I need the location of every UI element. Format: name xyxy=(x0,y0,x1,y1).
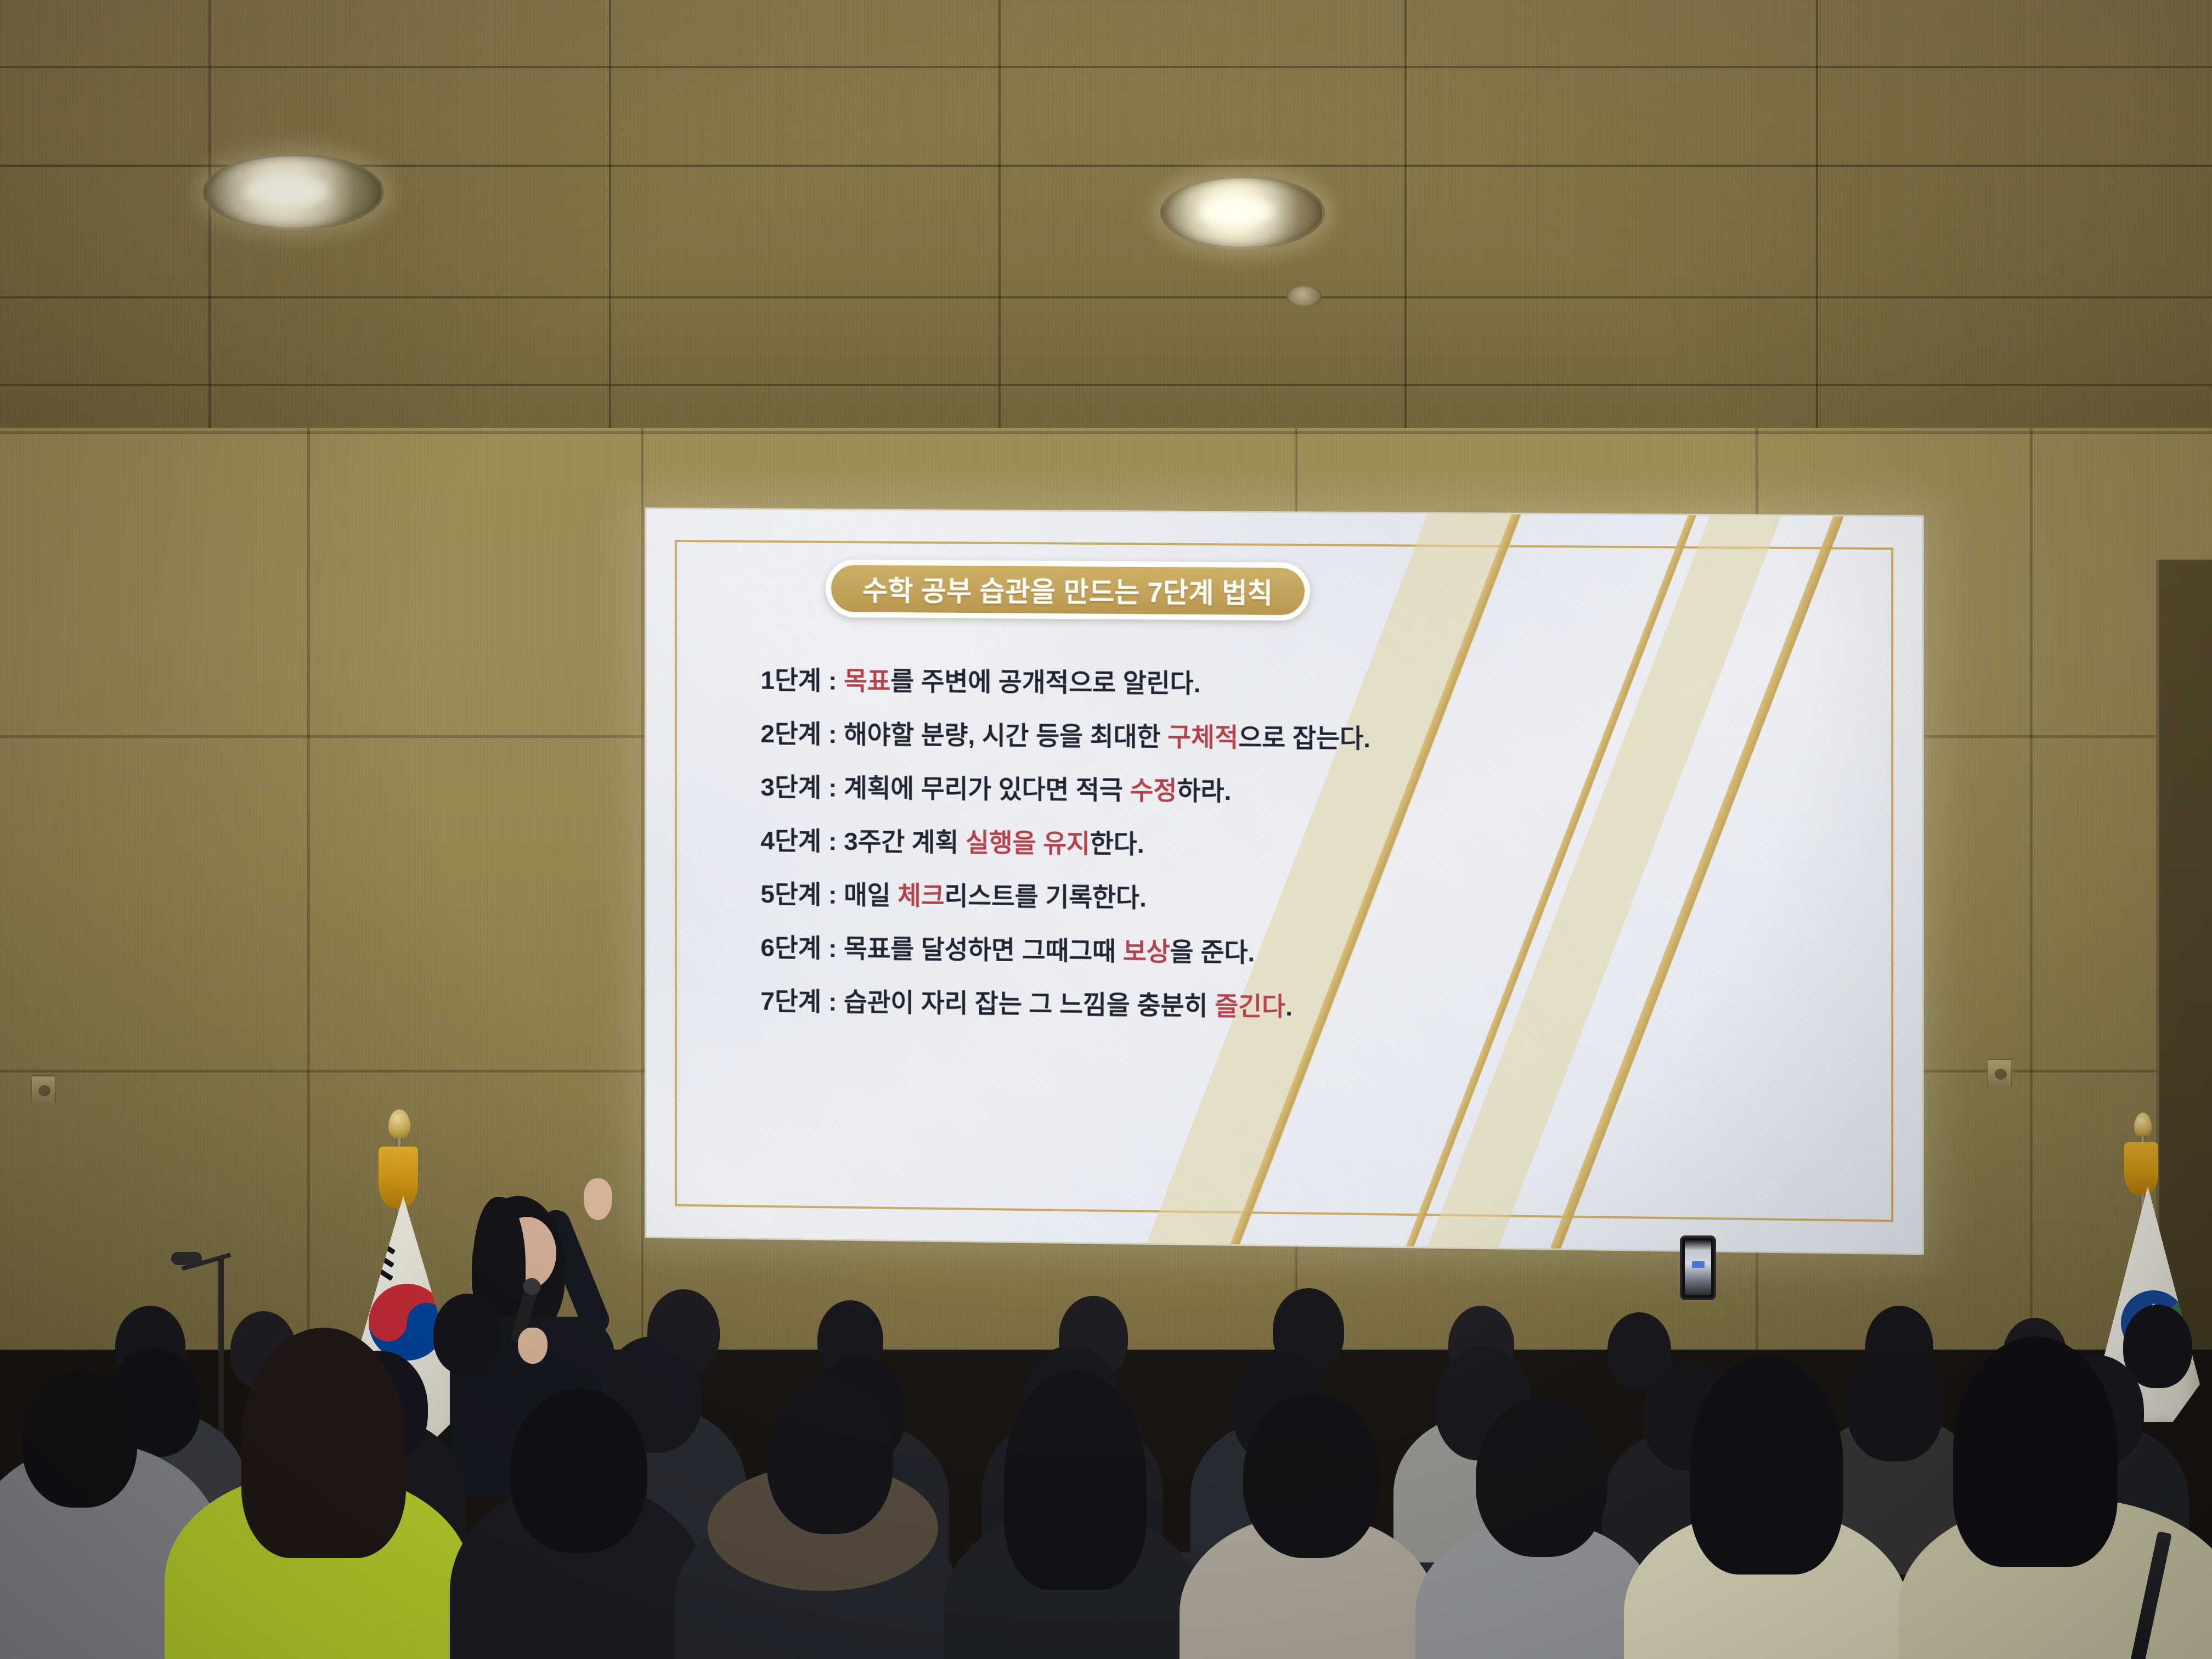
audience-head-long-hair xyxy=(1004,1370,1147,1590)
line-prefix: 4단계 : 3주간 계획 xyxy=(760,826,966,856)
line-prefix: 7단계 : 습관이 자리 잡는 그 느낌을 충분히 xyxy=(760,986,1215,1020)
audience-head xyxy=(1847,1348,1943,1462)
wall-outlet-plate xyxy=(31,1075,56,1104)
line-prefix: 3단계 : 계획에 무리가 있다면 적극 xyxy=(760,772,1130,805)
line-suffix: 리스트를 기록한다. xyxy=(944,881,1146,912)
line-highlight: 구체적 xyxy=(1167,722,1238,752)
audience-head-long-hair xyxy=(241,1328,406,1558)
slide-line-1: 1단계 : 목표를 주변에 공개적으로 알린다. xyxy=(760,667,1802,701)
flag-tassel xyxy=(2124,1142,2158,1195)
line-highlight: 보상 xyxy=(1123,936,1170,966)
projection-screen: 수학 공부 습관을 만드는 7단계 법칙 1단계 : 목표를 주변에 공개적으로… xyxy=(645,507,1924,1255)
line-prefix: 6단계 : 목표를 달성하면 그때그때 xyxy=(760,933,1123,966)
flag-tassel xyxy=(379,1147,418,1208)
line-prefix: 2단계 : 해야할 분량, 시간 등을 최대한 xyxy=(760,719,1167,751)
slide-line-2: 2단계 : 해야할 분량, 시간 등을 최대한 구체적으로 잡는다. xyxy=(760,720,1802,755)
audience-head xyxy=(767,1380,893,1534)
slide-line-5: 5단계 : 매일 체크리스트를 기록한다. xyxy=(760,881,1802,917)
audience-head xyxy=(22,1370,137,1508)
speaker-hand xyxy=(584,1178,612,1220)
line-suffix: 하라. xyxy=(1177,776,1231,805)
recessed-downlight xyxy=(203,154,384,230)
audience-head xyxy=(433,1294,501,1375)
audience-head xyxy=(1243,1393,1380,1558)
line-highlight: 즐긴다 xyxy=(1215,991,1285,1021)
slide-line-7: 7단계 : 습관이 자리 잡는 그 느낌을 충분히 즐긴다. xyxy=(760,988,1802,1025)
line-suffix: 을 준다. xyxy=(1170,937,1255,967)
line-prefix: 1단계 : xyxy=(760,665,844,695)
line-suffix: . xyxy=(1285,992,1293,1021)
audience-head xyxy=(1476,1398,1607,1557)
auditorium-photo: 수학 공부 습관을 만드는 7단계 법칙 1단계 : 목표를 주변에 공개적으로… xyxy=(0,0,2212,1659)
slide-line-3: 3단계 : 계획에 무리가 있다면 적극 수정하라. xyxy=(760,774,1802,809)
audience-head-long-hair xyxy=(1690,1355,1843,1575)
slide-title-banner: 수학 공부 습관을 만드는 7단계 법칙 xyxy=(826,560,1310,621)
recessed-downlight xyxy=(1160,176,1325,250)
flag-finial-icon xyxy=(2134,1113,2152,1138)
line-highlight: 실행을 유지 xyxy=(966,828,1090,858)
slide-body: 1단계 : 목표를 주변에 공개적으로 알린다. 2단계 : 해야할 분량, 시… xyxy=(760,667,1802,1053)
line-suffix: 를 주변에 공개적으로 알린다. xyxy=(890,667,1200,698)
line-suffix: 으로 잡는다. xyxy=(1238,723,1370,753)
slide-line-4: 4단계 : 3주간 계획 실행을 유지한다. xyxy=(760,827,1802,863)
slide-line-6: 6단계 : 목표를 달성하면 그때그때 보상을 준다. xyxy=(760,934,1802,971)
wall-outlet-plate xyxy=(1987,1059,2012,1087)
line-highlight: 체크 xyxy=(898,881,944,910)
audience-head-long-hair xyxy=(1953,1336,2118,1567)
slide-title: 수학 공부 습관을 만드는 7단계 법칙 xyxy=(862,569,1273,611)
line-prefix: 5단계 : 매일 xyxy=(760,879,898,910)
ceiling xyxy=(0,0,2212,433)
recessed-downlight xyxy=(1286,285,1322,307)
line-highlight: 수정 xyxy=(1130,776,1177,805)
audience xyxy=(0,1223,2212,1659)
line-suffix: 한다. xyxy=(1090,829,1144,859)
audience-head xyxy=(510,1388,647,1553)
line-highlight: 목표 xyxy=(844,666,890,695)
